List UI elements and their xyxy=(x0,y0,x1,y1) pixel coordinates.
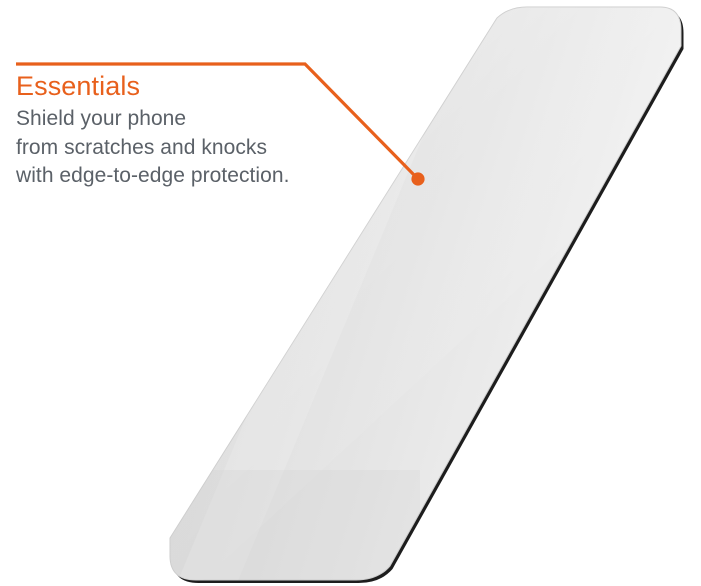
callout-marker-dot xyxy=(411,172,424,185)
product-illustration-scene: Essentials Shield your phone from scratc… xyxy=(0,0,701,586)
callout-body-line-1: Shield your phone xyxy=(16,105,376,134)
callout-title: Essentials xyxy=(16,70,376,103)
callout-body-line-3: with edge-to-edge protection. xyxy=(16,162,376,191)
callout-text-block: Essentials Shield your phone from scratc… xyxy=(16,70,376,191)
callout-body-line-2: from scratches and knocks xyxy=(16,134,376,163)
callout-body: Shield your phone from scratches and kno… xyxy=(16,105,376,191)
